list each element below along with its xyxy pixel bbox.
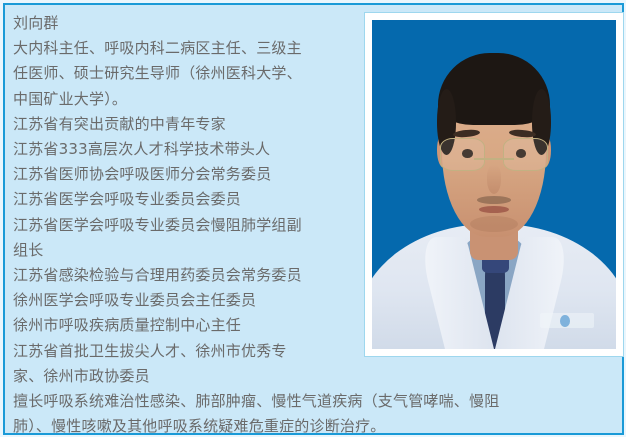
bio-line: 江苏省医师协会呼吸医师分会常务委员 [13, 162, 357, 187]
mustache [477, 196, 511, 204]
portrait-photo-frame [364, 12, 624, 357]
mouth [479, 206, 508, 213]
doctor-portrait-image [372, 20, 616, 349]
hospital-logo-icon [560, 315, 570, 327]
bio-line: 大内科主任、呼吸内科二病区主任、三级主 [13, 36, 357, 61]
bio-line: 中国矿业大学）。 [13, 87, 357, 112]
bio-line: 江苏省医学会呼吸专业委员会委员 [13, 187, 357, 212]
bio-line: 江苏省感染检验与合理用药委员会常务委员 [13, 263, 357, 288]
card-inner-border: 刘向群 大内科主任、呼吸内科二病区主任、三级主 任医师、硕士研究生导师（徐州医科… [3, 3, 624, 435]
eyeglass-lens-right [503, 138, 548, 171]
bio-line: 江苏省有突出贡献的中青年专家 [13, 112, 357, 137]
bio-line: 组长 [13, 238, 357, 263]
bio-line: 徐州医学会呼吸专业委员会主任委员 [13, 288, 357, 313]
eyeglass-lens-left [440, 138, 485, 171]
bio-line: 擅长呼吸系统难治性感染、肺部肿瘤、慢性气道疾病（支气管哮喘、慢阻 [13, 389, 623, 414]
bio-line: 江苏省医学会呼吸专业委员会慢阻肺学组副 [13, 213, 357, 238]
doctor-bio-text: 刘向群 大内科主任、呼吸内科二病区主任、三级主 任医师、硕士研究生导师（徐州医科… [13, 11, 357, 431]
bio-line: 江苏省首批卫生拔尖人才、徐州市优秀专 [13, 339, 357, 364]
bio-line: 家、徐州市政协委员 [13, 364, 357, 389]
bio-line: 任医师、硕士研究生导师（徐州医科大学、 [13, 61, 357, 86]
eyeglass-bridge [474, 158, 513, 160]
bio-line: 江苏省333高层次人才科学技术带头人 [13, 137, 357, 162]
doctor-name: 刘向群 [13, 11, 357, 36]
bio-line: 肺）、慢性咳嗽及其他呼吸系统疑难危重症的诊断治疗。 [13, 414, 623, 439]
bio-line: 徐州市呼吸疾病质量控制中心主任 [13, 313, 357, 338]
doctor-profile-card: 刘向群 大内科主任、呼吸内科二病区主任、三级主 任医师、硕士研究生导师（徐州医科… [0, 0, 626, 437]
